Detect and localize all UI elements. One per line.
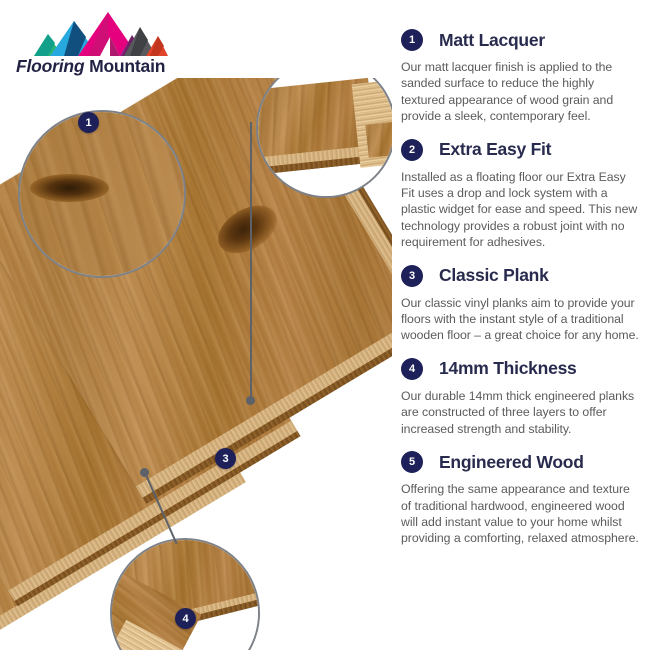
feature-4-title: 14mm Thickness bbox=[439, 358, 577, 379]
callout-circle-3-tongue-groove bbox=[110, 538, 260, 650]
feature-1-header: 1 Matt Lacquer bbox=[401, 26, 641, 54]
feature-3-header: 3 Classic Plank bbox=[401, 262, 641, 290]
callout-circle-1-grain bbox=[18, 110, 186, 278]
feature-item-4: 4 14mm Thickness Our durable 14mm thick … bbox=[401, 355, 641, 437]
feature-4-body: Our durable 14mm thick engineered planks… bbox=[401, 388, 641, 437]
feature-2-number: 2 bbox=[409, 144, 415, 156]
brand-wordmark: Flooring Mountain bbox=[16, 56, 181, 80]
photo-badge-3[interactable]: 3 bbox=[215, 448, 236, 469]
feature-3-number: 3 bbox=[409, 270, 415, 282]
feature-2-title: Extra Easy Fit bbox=[439, 139, 551, 160]
feature-4-header: 4 14mm Thickness bbox=[401, 355, 641, 383]
feature-item-3: 3 Classic Plank Our classic vinyl planks… bbox=[401, 262, 641, 344]
feature-3-body: Our classic vinyl planks aim to provide … bbox=[401, 295, 641, 344]
feature-2-badge: 2 bbox=[401, 139, 423, 161]
feature-1-body: Our matt lacquer finish is applied to th… bbox=[401, 59, 641, 125]
feature-3-title: Classic Plank bbox=[439, 265, 549, 286]
feature-item-1: 1 Matt Lacquer Our matt lacquer finish i… bbox=[401, 26, 641, 125]
photo-badge-1-label: 1 bbox=[85, 117, 91, 129]
brand-name-part2: Mountain bbox=[89, 56, 165, 76]
feature-3-badge: 3 bbox=[401, 265, 423, 287]
feature-item-5: 5 Engineered Wood Offering the same appe… bbox=[401, 448, 641, 547]
brand-logo[interactable]: Flooring Mountain bbox=[16, 10, 181, 82]
feature-2-header: 2 Extra Easy Fit bbox=[401, 136, 641, 164]
feature-list: 1 Matt Lacquer Our matt lacquer finish i… bbox=[401, 26, 641, 558]
photo-badge-4-label: 4 bbox=[182, 613, 188, 625]
leader-dot-2 bbox=[246, 396, 255, 405]
mountain-logo-icon bbox=[28, 10, 168, 56]
feature-1-title: Matt Lacquer bbox=[439, 30, 545, 51]
callout-circle-2-joint bbox=[256, 78, 392, 198]
feature-5-badge: 5 bbox=[401, 451, 423, 473]
brand-name-part1: Flooring bbox=[16, 56, 84, 76]
infographic-page: Flooring Mountain bbox=[0, 0, 650, 650]
product-photo: 1 2 3 4 bbox=[0, 78, 392, 650]
photo-badge-1[interactable]: 1 bbox=[78, 112, 99, 133]
leader-line-2 bbox=[250, 122, 252, 400]
feature-5-header: 5 Engineered Wood bbox=[401, 448, 641, 476]
leader-dot-4 bbox=[140, 468, 149, 477]
feature-1-number: 1 bbox=[409, 34, 415, 46]
photo-badge-3-label: 3 bbox=[222, 453, 228, 465]
feature-2-body: Installed as a floating floor our Extra … bbox=[401, 169, 641, 251]
feature-5-number: 5 bbox=[409, 456, 415, 468]
feature-4-badge: 4 bbox=[401, 358, 423, 380]
photo-badge-4[interactable]: 4 bbox=[175, 608, 196, 629]
feature-5-body: Offering the same appearance and texture… bbox=[401, 481, 641, 547]
feature-1-badge: 1 bbox=[401, 29, 423, 51]
feature-5-title: Engineered Wood bbox=[439, 452, 584, 473]
feature-4-number: 4 bbox=[409, 363, 415, 375]
feature-item-2: 2 Extra Easy Fit Installed as a floating… bbox=[401, 136, 641, 251]
